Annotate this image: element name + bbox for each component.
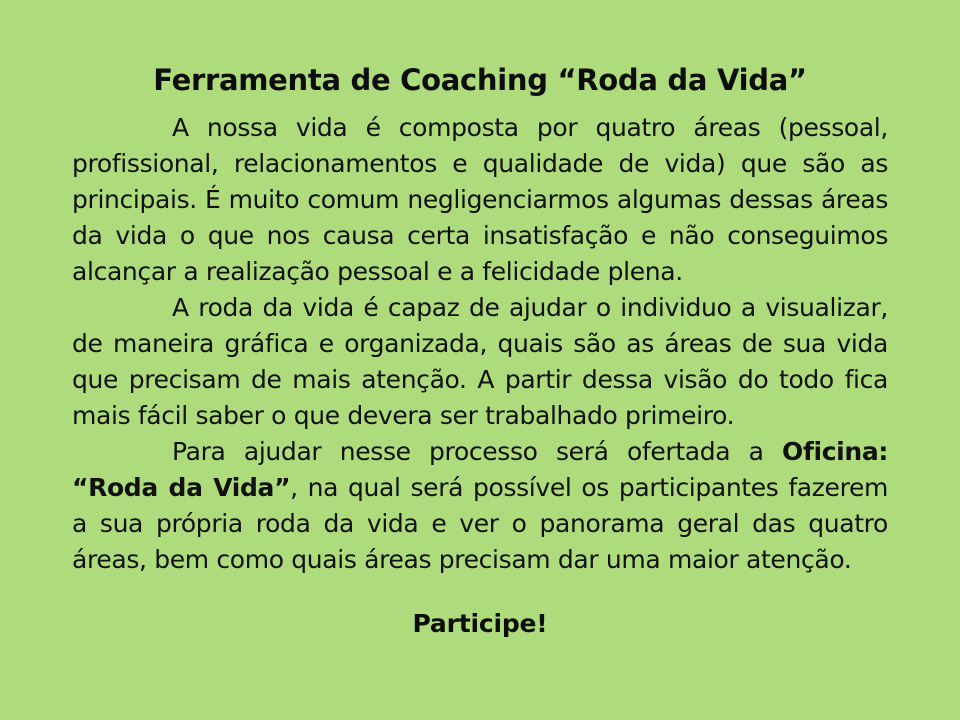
paragraph-areas-da-vida: A nossa vida é composta por quatro áreas… — [72, 110, 888, 290]
slide-body: A nossa vida é composta por quatro áreas… — [0, 110, 960, 578]
call-to-action-text: Participe! — [0, 578, 960, 642]
slide-canvas: Ferramenta de Coaching “Roda da Vida” A … — [0, 0, 960, 720]
page-title: Ferramenta de Coaching “Roda da Vida” — [0, 0, 960, 98]
paragraph-oficina-lead: Para ajudar nesse processo será ofertada… — [172, 437, 782, 466]
paragraph-roda-da-vida: A roda da vida é capaz de ajudar o indiv… — [72, 290, 888, 434]
paragraph-oficina: Para ajudar nesse processo será ofertada… — [72, 434, 888, 578]
